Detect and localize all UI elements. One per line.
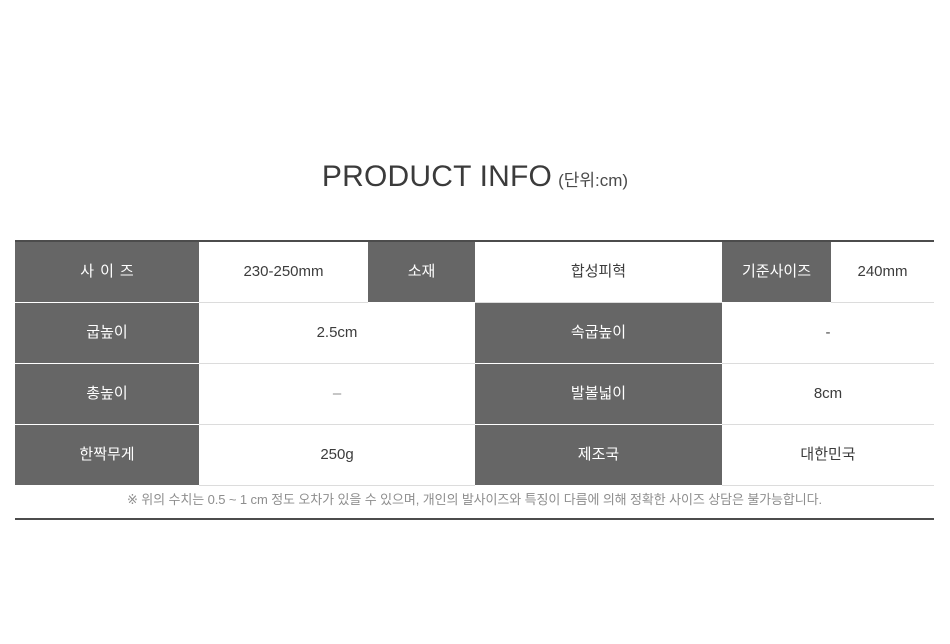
spec-value-heel-height: 2.5cm bbox=[199, 302, 475, 363]
spec-value-foot-width: 8cm bbox=[722, 363, 934, 424]
spec-label-origin: 제조국 bbox=[475, 424, 722, 485]
spec-value-size: 230-250mm bbox=[199, 241, 368, 302]
spec-value-inner-heel-height: - bbox=[722, 302, 934, 363]
table-row: 총높이 – 발볼넓이 8cm bbox=[15, 363, 934, 424]
page-title-main: PRODUCT INFO bbox=[322, 160, 552, 193]
table-row: 굽높이 2.5cm 속굽높이 - bbox=[15, 302, 934, 363]
spec-value-single-weight: 250g bbox=[199, 424, 475, 485]
spec-label-single-weight: 한짝무게 bbox=[15, 424, 199, 485]
table-row: 한짝무게 250g 제조국 대한민국 bbox=[15, 424, 934, 485]
spec-value-origin: 대한민국 bbox=[722, 424, 934, 485]
spec-label-heel-height: 굽높이 bbox=[15, 302, 199, 363]
spec-label-total-height: 총높이 bbox=[15, 363, 199, 424]
product-info-page: PRODUCT INFO(단위:cm) 사이즈 230-250mm 소재 합성피… bbox=[0, 0, 950, 644]
spec-label-base-size: 기준사이즈 bbox=[722, 241, 831, 302]
spec-value-total-height: – bbox=[199, 363, 475, 424]
page-title-unit-note: (단위:cm) bbox=[558, 171, 628, 190]
spec-label-size: 사이즈 bbox=[15, 241, 199, 302]
size-disclaimer: ※ 위의 수치는 0.5 ~ 1 cm 정도 오차가 있을 수 있으며, 개인의… bbox=[15, 486, 934, 520]
spec-label-inner-heel-height: 속굽높이 bbox=[475, 302, 722, 363]
size-disclaimer-text: ※ 위의 수치는 0.5 ~ 1 cm 정도 오차가 있을 수 있으며, 개인의… bbox=[127, 486, 822, 514]
table-row: 사이즈 230-250mm 소재 합성피혁 기준사이즈 240mm bbox=[15, 241, 934, 302]
product-spec-table: 사이즈 230-250mm 소재 합성피혁 기준사이즈 240mm 굽높이 2.… bbox=[15, 240, 934, 486]
page-title: PRODUCT INFO(단위:cm) bbox=[0, 160, 950, 194]
spec-value-base-size: 240mm bbox=[831, 241, 934, 302]
spec-label-foot-width: 발볼넓이 bbox=[475, 363, 722, 424]
spec-label-material: 소재 bbox=[368, 241, 475, 302]
spec-value-material: 합성피혁 bbox=[475, 241, 722, 302]
